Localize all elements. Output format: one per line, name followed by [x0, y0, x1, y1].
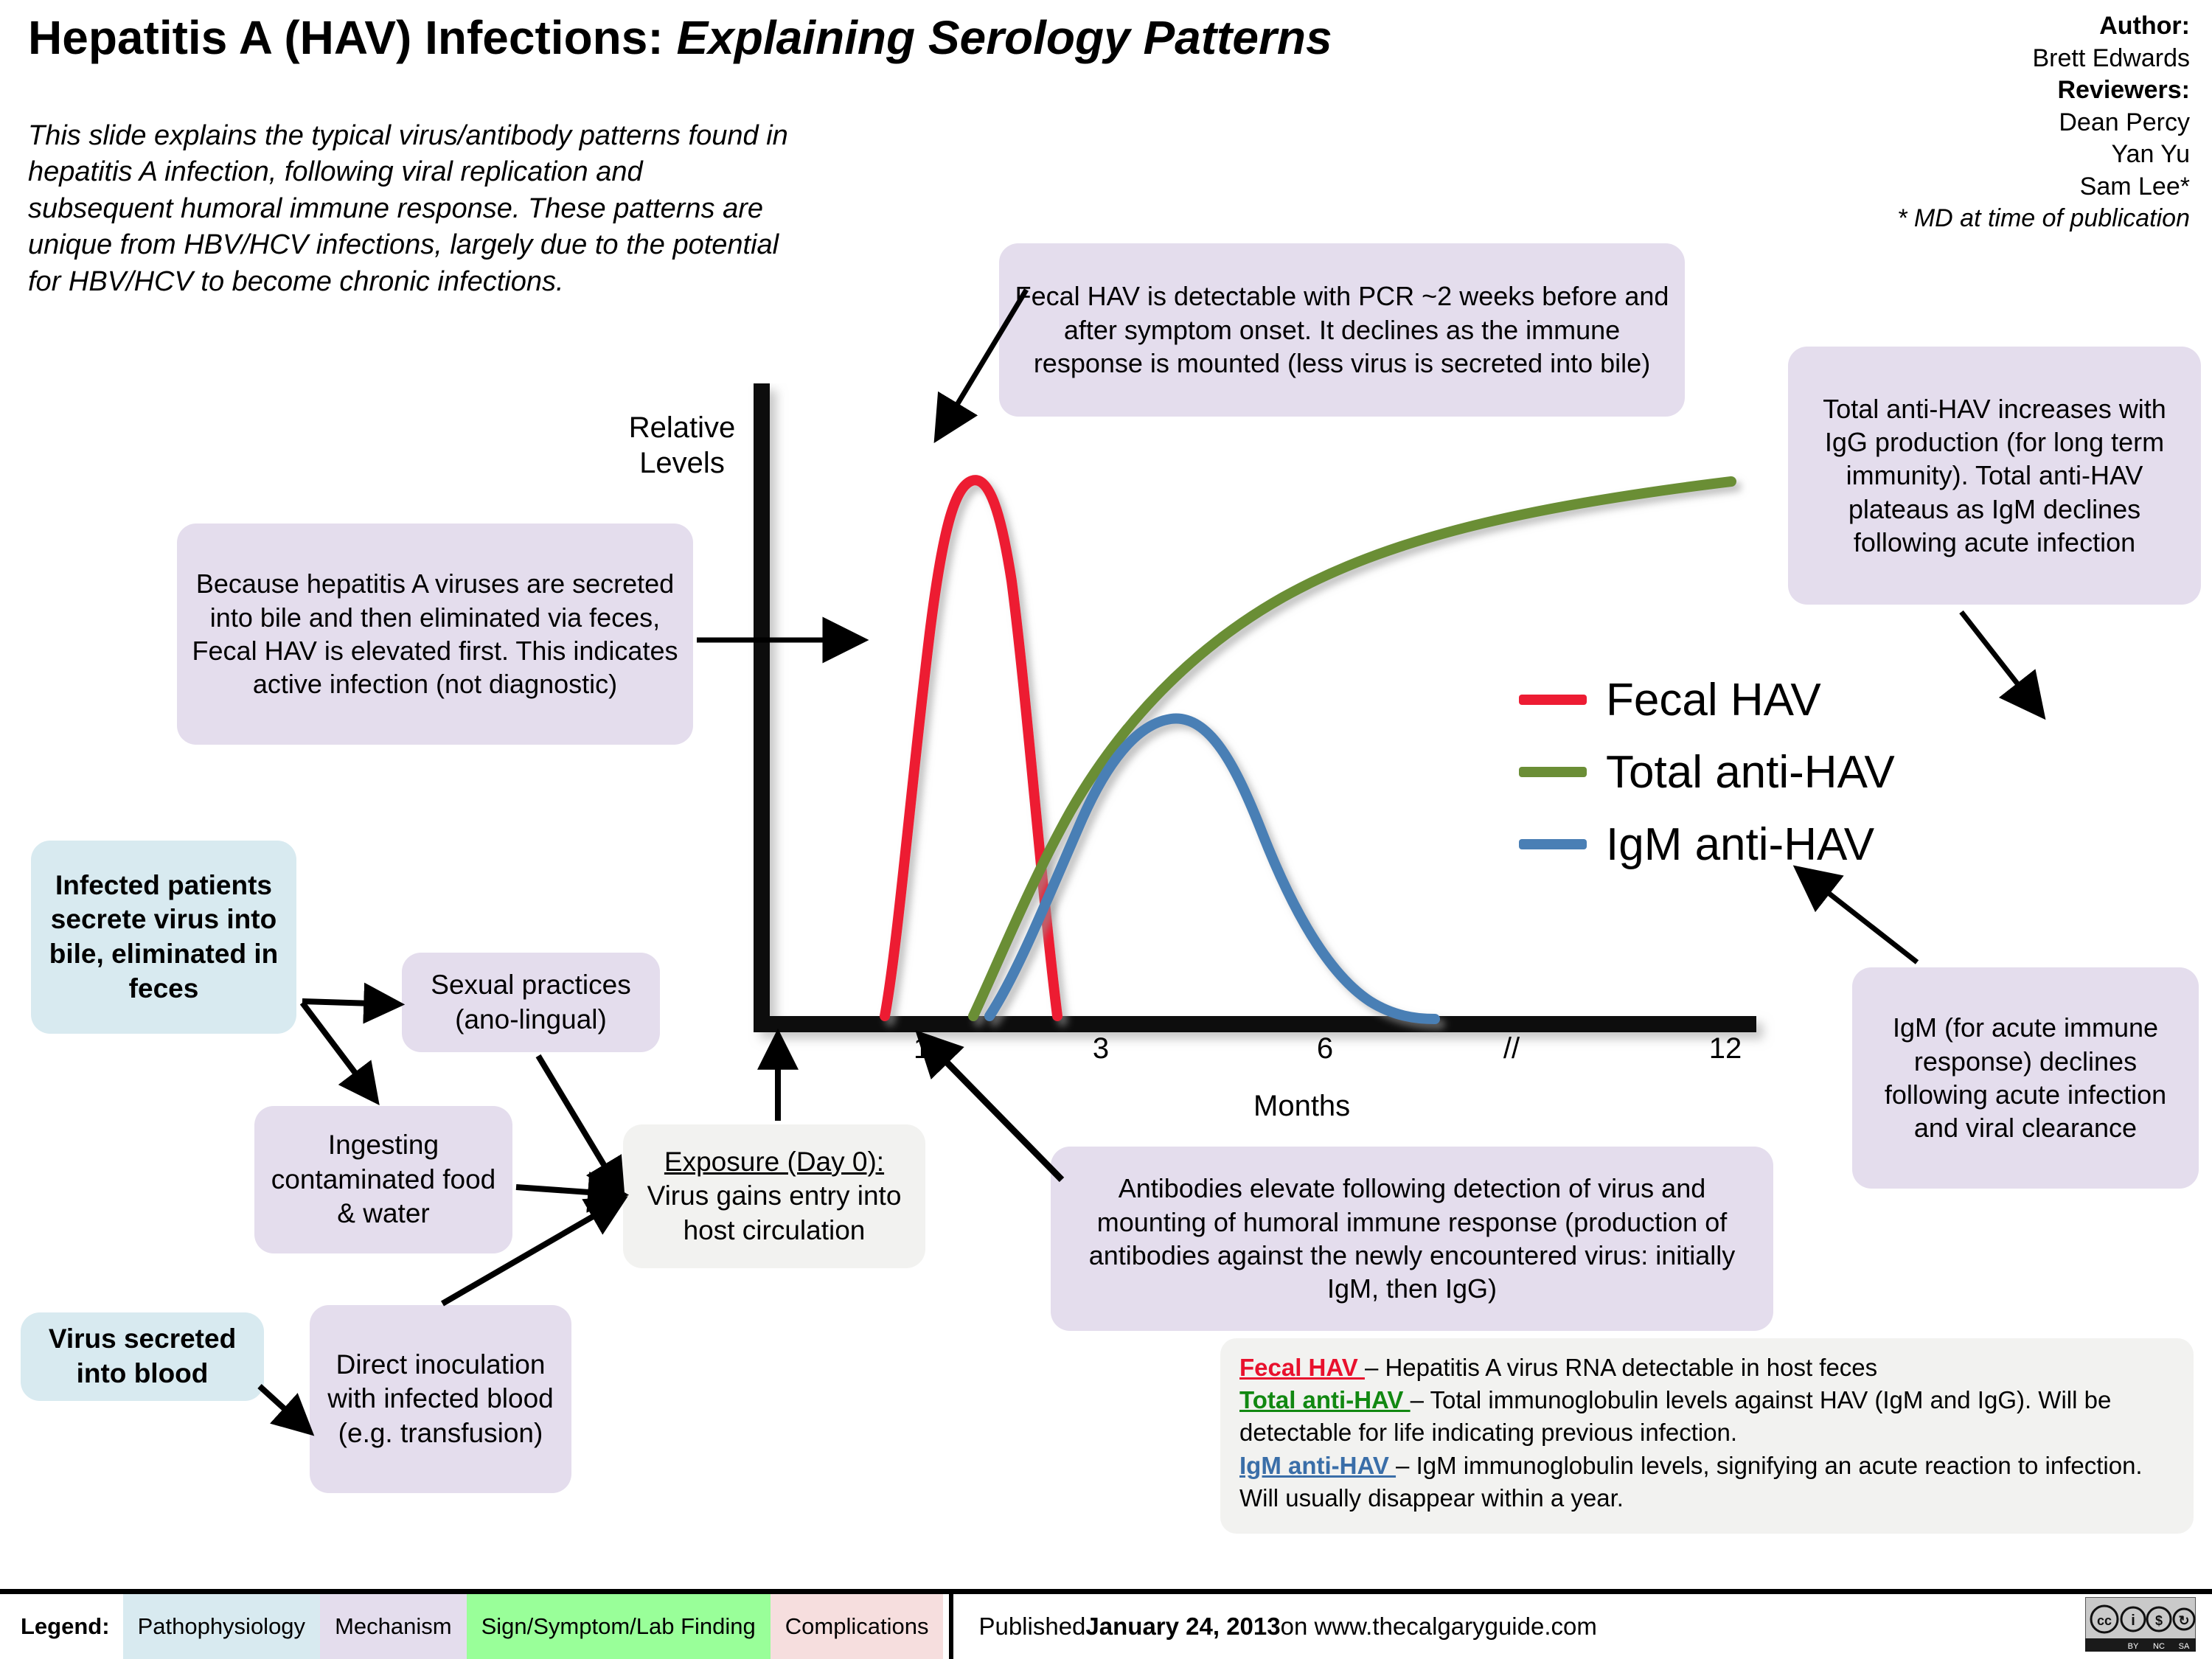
creative-commons-badge[interactable]: cc i $ ↻ BY NC SA [2085, 1597, 2196, 1652]
legend-swatch-total-anti-hav [1519, 767, 1587, 777]
author-block: Author: Brett Edwards Reviewers: Dean Pe… [1644, 10, 2190, 235]
footer-chip-complications: Complications [771, 1594, 944, 1659]
callout-bile-feces: Because hepatitis A viruses are secreted… [177, 524, 693, 745]
svg-text:$: $ [2155, 1613, 2163, 1628]
flowbox-virus-secreted-blood: Virus secreted into blood [21, 1312, 264, 1401]
footer-chip-sign-symptom-lab: Sign/Symptom/Lab Finding [467, 1594, 771, 1659]
arrow-sexual-to-exposure [538, 1056, 621, 1193]
flowbox-infected-patients: Infected patients secrete virus into bil… [31, 841, 296, 1034]
legend-swatch-igm-anti-hav [1519, 839, 1587, 849]
definition-text-fecal-hav: – Hepatitis A virus RNA detectable in ho… [1365, 1354, 1877, 1381]
chart-legend: Fecal HAV Total anti-HAV IgM anti-HAV [1519, 664, 1895, 880]
reviewer-name: Sam Lee* [1644, 171, 2190, 204]
flowbox-ingesting-contaminated: Ingesting contaminated food & water [254, 1106, 512, 1253]
page-title-main: Hepatitis A (HAV) Infections: [28, 11, 664, 64]
cc-mark-by: BY [2128, 1642, 2139, 1651]
arrow-ingesting-to-exposure [516, 1187, 621, 1194]
footer-published-prefix: Published [978, 1613, 1085, 1641]
arrow-infected-to-ingesting [302, 1003, 375, 1099]
definitions-panel: Fecal HAV – Hepatitis A virus RNA detect… [1220, 1338, 2194, 1534]
x-tick-12: 12 [1700, 1032, 1751, 1065]
footer-chip-pathophysiology: Pathophysiology [123, 1594, 321, 1659]
definition-igm-anti-hav: IgM anti-HAV – IgM immunoglobulin levels… [1239, 1450, 2174, 1514]
x-tick-3: 3 [1075, 1032, 1127, 1065]
legend-label-fecal-hav: Fecal HAV [1606, 674, 1821, 726]
legend-item-igm-anti-hav: IgM anti-HAV [1519, 808, 1895, 880]
x-tick-break: // [1486, 1032, 1537, 1065]
author-name: Brett Edwards [1644, 43, 2190, 75]
reviewers-label: Reviewers: [1644, 74, 2190, 107]
legend-item-fecal-hav: Fecal HAV [1519, 664, 1895, 736]
footer-published: Published January 24, 2013 on www.thecal… [949, 1594, 1596, 1659]
svg-text:cc: cc [2097, 1613, 2112, 1628]
exposure-title: Exposure (Day 0): [664, 1145, 884, 1180]
arrow-infected-to-sexual [302, 1001, 397, 1004]
arrow-total-callout-to-curve [1961, 612, 2041, 714]
footer-published-suffix: on www.thecalgaryguide.com [1281, 1613, 1597, 1641]
exposure-body: Virus gains entry into host circulation [635, 1179, 914, 1248]
cc-mark-sa: SA [2179, 1642, 2190, 1651]
arrow-blood-to-inoculation [260, 1386, 308, 1430]
author-footnote: * MD at time of publication [1644, 203, 2190, 235]
legend-swatch-fecal-hav [1519, 695, 1587, 705]
reviewer-name: Dean Percy [1644, 107, 2190, 139]
arrow-igm-callout-to-curve [1799, 870, 1917, 962]
footer-published-date: January 24, 2013 [1085, 1613, 1280, 1641]
page-title: Hepatitis A (HAV) Infections: Explaining… [28, 10, 1332, 65]
intro-paragraph: This slide explains the typical virus/an… [28, 118, 795, 300]
chart-x-axis-label: Months [1253, 1090, 1350, 1123]
callout-antibodies-elevate: Antibodies elevate following detection o… [1051, 1147, 1773, 1331]
reviewer-name: Yan Yu [1644, 139, 2190, 171]
legend-label-total-anti-hav: Total anti-HAV [1606, 746, 1895, 799]
definition-term-total-anti-hav: Total anti-HAV [1239, 1386, 1411, 1413]
flowbox-exposure-day0: Exposure (Day 0): Virus gains entry into… [623, 1124, 925, 1268]
footer-legend-bar: Legend: Pathophysiology Mechanism Sign/S… [0, 1589, 2212, 1659]
footer-legend-label: Legend: [0, 1594, 123, 1659]
callout-igm-decline: IgM (for acute immune response) declines… [1852, 967, 2199, 1189]
footer-chip-mechanism: Mechanism [320, 1594, 467, 1659]
svg-text:i: i [2131, 1613, 2135, 1629]
chart-y-axis-label: Relative Levels [608, 410, 756, 481]
flowbox-direct-inoculation: Direct inoculation with infected blood (… [310, 1305, 571, 1493]
slide-canvas: Hepatitis A (HAV) Infections: Explaining… [0, 0, 2212, 1659]
x-tick-1: 1 [896, 1032, 947, 1065]
callout-total-anti-hav: Total anti-HAV increases with IgG produc… [1788, 347, 2201, 605]
svg-text:↻: ↻ [2178, 1613, 2189, 1628]
definition-term-igm-anti-hav: IgM anti-HAV [1239, 1452, 1396, 1479]
page-title-subtitle: Explaining Serology Patterns [676, 11, 1332, 64]
cc-mark-nc: NC [2153, 1642, 2165, 1651]
author-label: Author: [1644, 10, 2190, 43]
definition-total-anti-hav: Total anti-HAV – Total immunoglobulin le… [1239, 1384, 2174, 1449]
definition-term-fecal-hav: Fecal HAV [1239, 1354, 1365, 1381]
legend-item-total-anti-hav: Total anti-HAV [1519, 736, 1895, 808]
flowbox-sexual-practices: Sexual practices (ano-lingual) [402, 953, 660, 1052]
x-tick-6: 6 [1299, 1032, 1351, 1065]
legend-label-igm-anti-hav: IgM anti-HAV [1606, 818, 1874, 871]
definition-fecal-hav: Fecal HAV – Hepatitis A virus RNA detect… [1239, 1352, 2174, 1384]
